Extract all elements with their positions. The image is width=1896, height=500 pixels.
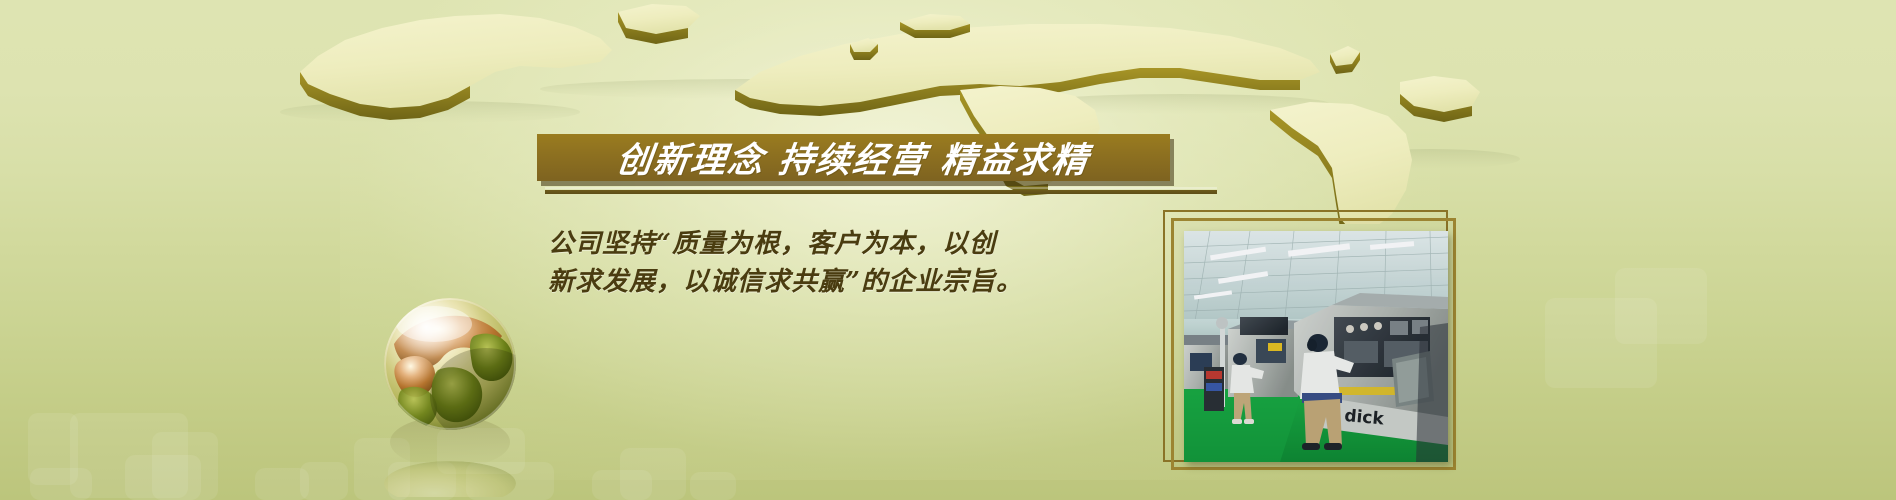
headline-text: 创新理念 持续经营 精益求精 xyxy=(614,132,1093,183)
watermark-square xyxy=(466,462,554,500)
watermark-square xyxy=(255,468,309,500)
factory-photo[interactable]: dick xyxy=(1184,231,1448,462)
map-south-america xyxy=(1270,102,1412,224)
headline-bar: 创新理念 持续经营 精益求精 xyxy=(537,134,1170,181)
subtitle-line-1: 公司坚持“质量为根，客户为本，以创 xyxy=(548,229,996,259)
watermark-square xyxy=(152,432,218,500)
headline-rule-highlight xyxy=(545,187,1217,189)
watermark-square xyxy=(690,472,736,500)
headline-rule xyxy=(545,190,1217,194)
map-australia xyxy=(1400,76,1480,122)
watermark-square xyxy=(354,438,410,500)
subtitle-block: 公司坚持“质量为根，客户为本，以创 新求发展，以诚信求共赢”的企业宗旨。 xyxy=(548,226,1168,301)
company-banner: 创新理念 持续经营 精益求精 公司坚持“质量为根，客户为本，以创 新求发展，以诚… xyxy=(0,0,1896,500)
watermark-square xyxy=(1615,268,1707,344)
map-eurasia xyxy=(735,14,1360,116)
watermark-square xyxy=(620,448,686,500)
subtitle-line-2: 新求发展，以诚信求共赢”的企业宗旨。 xyxy=(548,264,1168,302)
map-north-america xyxy=(300,4,700,120)
